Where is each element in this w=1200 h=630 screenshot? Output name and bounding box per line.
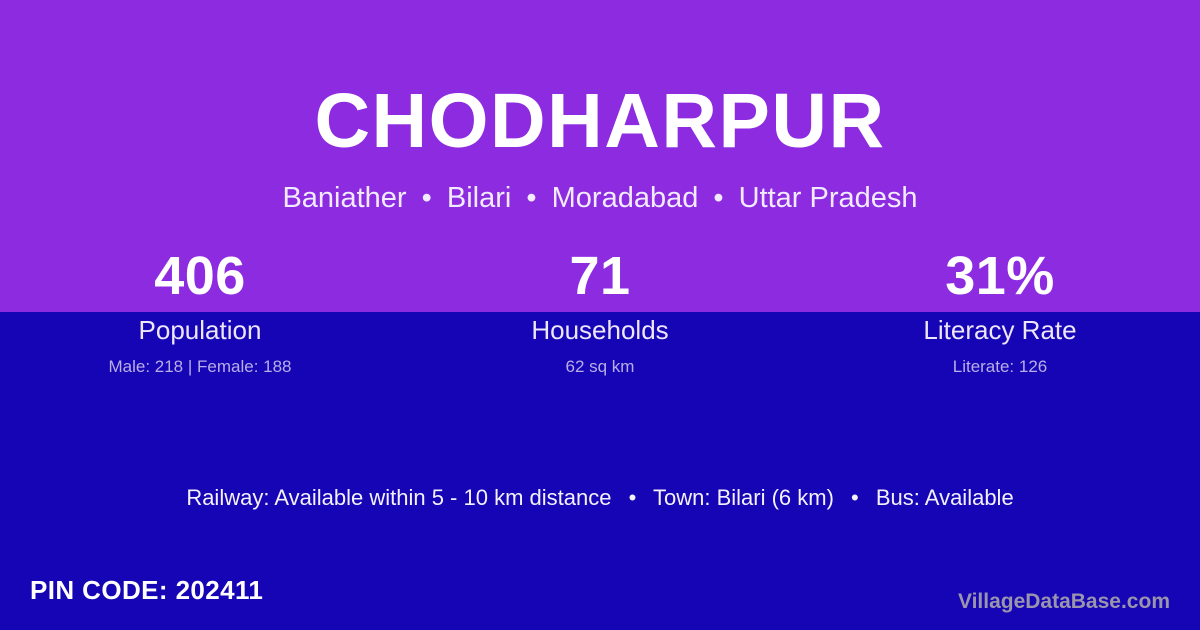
infrastructure-separator: • xyxy=(618,485,648,510)
page-title: CHODHARPUR xyxy=(0,83,1200,160)
infrastructure-summary: Railway: Available within 5 - 10 km dist… xyxy=(0,485,1200,511)
stat-subtext: 62 sq km xyxy=(400,358,800,377)
breadcrumb-item-block: Baniather xyxy=(282,182,406,214)
village-info-card: CHODHARPUR Baniather • Bilari • Moradaba… xyxy=(0,0,1200,630)
breadcrumb-separator: • xyxy=(519,182,543,214)
stat-value: 71 xyxy=(400,248,800,306)
stat-subtext: Male: 218 | Female: 188 xyxy=(0,358,400,377)
site-brand-label: VillageDataBase.com xyxy=(958,589,1170,614)
infrastructure-separator: • xyxy=(840,485,870,510)
infrastructure-item-town: Town: Bilari (6 km) xyxy=(653,485,834,510)
stat-households: 71 Households 62 sq km xyxy=(400,248,800,377)
stat-label: Population xyxy=(0,316,400,345)
breadcrumb-item-tehsil: Bilari xyxy=(447,182,511,214)
breadcrumb-item-district: Moradabad xyxy=(552,182,699,214)
breadcrumb: Baniather • Bilari • Moradabad • Uttar P… xyxy=(0,183,1200,215)
breadcrumb-separator: • xyxy=(415,182,439,214)
stats-row: 406 Population Male: 218 | Female: 188 7… xyxy=(0,248,1200,377)
stat-label: Households xyxy=(400,316,800,345)
pin-code-label: PIN CODE: 202411 xyxy=(30,575,263,606)
infrastructure-item-railway: Railway: Available within 5 - 10 km dist… xyxy=(186,485,611,510)
stat-value: 31% xyxy=(800,248,1200,306)
stat-value: 406 xyxy=(0,248,400,306)
breadcrumb-item-state: Uttar Pradesh xyxy=(739,182,918,214)
stat-subtext: Literate: 126 xyxy=(800,358,1200,377)
infrastructure-item-bus: Bus: Available xyxy=(876,485,1014,510)
breadcrumb-separator: • xyxy=(706,182,730,214)
stat-population: 406 Population Male: 218 | Female: 188 xyxy=(0,248,400,377)
stat-literacy-rate: 31% Literacy Rate Literate: 126 xyxy=(800,248,1200,377)
stat-label: Literacy Rate xyxy=(800,316,1200,345)
